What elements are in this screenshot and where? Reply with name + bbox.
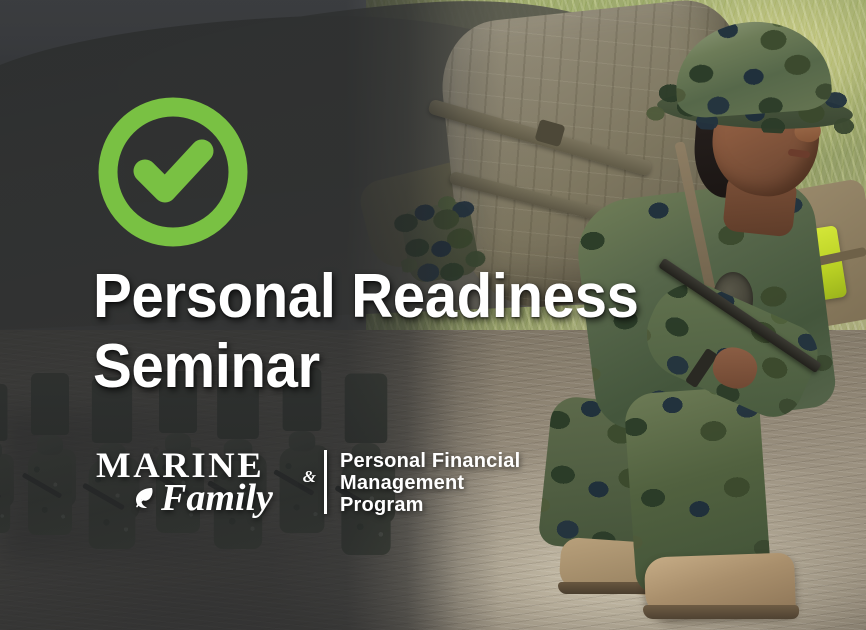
logo-ampersand: & xyxy=(303,468,316,485)
logo-marine-word: MARINE xyxy=(96,448,322,482)
headline-line-2: Seminar xyxy=(93,332,695,402)
logo-family-row: Family xyxy=(96,480,318,516)
page-title: Personal Readiness Seminar xyxy=(93,262,695,402)
seminar-promo-banner: Personal Readiness Seminar MARINE & Fami… xyxy=(0,0,866,630)
check-circle-icon xyxy=(98,97,248,247)
headline-line-1: Personal Readiness xyxy=(93,262,695,332)
marine-and-family-logo: MARINE & Family Personal Financial Manag… xyxy=(96,448,520,516)
leaf-flame-icon xyxy=(132,485,158,511)
banner-content: Personal Readiness Seminar MARINE & Fami… xyxy=(0,0,866,630)
program-line-1: Personal Financial xyxy=(340,450,520,472)
logo-family-word: Family xyxy=(161,480,273,516)
program-line-3: Program xyxy=(340,494,520,516)
logo-divider xyxy=(324,450,327,514)
program-name: Personal Financial Management Program xyxy=(340,448,520,516)
program-line-2: Management xyxy=(340,472,520,494)
logo-wordmark: MARINE & Family xyxy=(96,448,318,516)
